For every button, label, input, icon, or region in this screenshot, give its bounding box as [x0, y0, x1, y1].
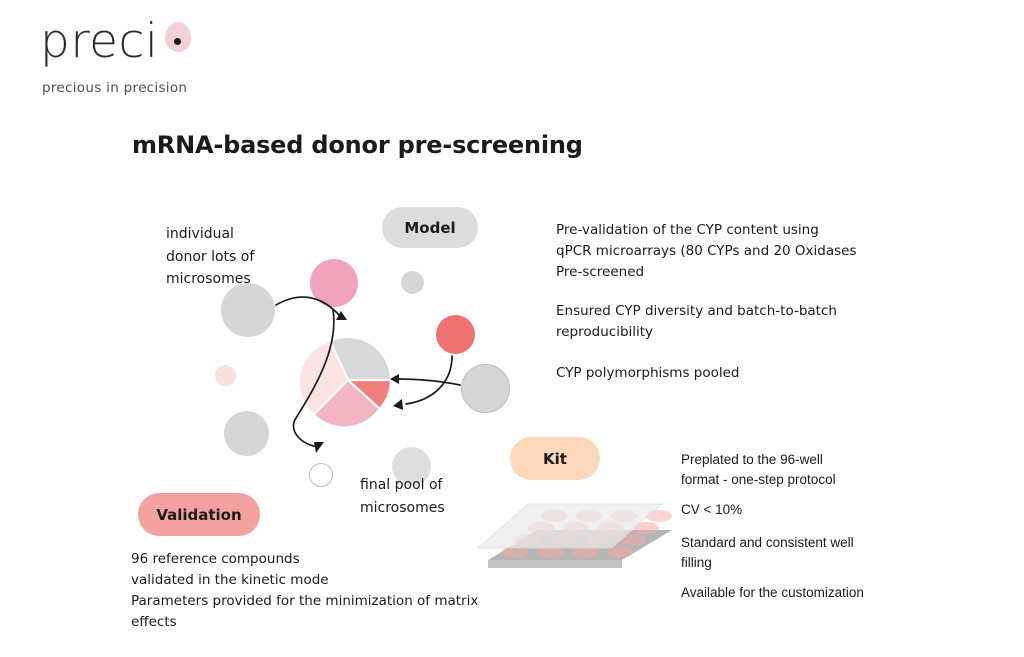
pie-slice-pale — [300, 342, 348, 414]
logo-wordmark: preci — [40, 18, 158, 65]
pill-validation[interactable]: Validation — [138, 493, 260, 536]
pie-slice-gray — [331, 338, 390, 380]
donor-lot-circle-gray-1 — [221, 283, 275, 337]
arrowhead-4 — [390, 374, 399, 384]
slide-canvas: preci precious in precision mRNA-based d… — [0, 0, 1024, 657]
page-title: mRNA-based donor pre-screening — [132, 131, 583, 159]
pie-slice-salmon — [348, 380, 390, 408]
donor-lot-circle-gray-small-1 — [401, 271, 424, 294]
flow-arrowheads — [314, 311, 403, 453]
arrowhead-3 — [393, 399, 403, 410]
pie-slice-pink — [314, 380, 379, 426]
arrow-grayring-to-pie — [398, 379, 460, 385]
flow-arrows — [276, 297, 460, 447]
logo-dot-icon — [174, 38, 181, 45]
validation-body-text: 96 reference compounds validated in the … — [131, 549, 491, 633]
96-well-plate-illustration — [470, 488, 690, 603]
kit-bullet-4: Available for the customization — [681, 583, 911, 603]
arrow-pink-to-pie — [293, 310, 333, 447]
arrow-red-to-pie — [406, 356, 452, 404]
arrowhead-1 — [336, 311, 347, 320]
kit-bullet-3: Standard and consistent well filling — [681, 533, 896, 572]
donor-lot-circle-gray-2 — [224, 411, 269, 456]
kit-bullet-1: Preplated to the 96-well format - one-st… — [681, 450, 891, 489]
plate-base-front — [488, 560, 622, 568]
model-bullet-3: CYP polymorphisms pooled — [556, 363, 856, 384]
donor-lot-circle-outline — [309, 463, 333, 487]
logo-tagline: precious in precision — [42, 80, 187, 96]
donor-lot-circle-red-1 — [436, 315, 475, 354]
arrowhead-2 — [314, 442, 324, 453]
pie-slice-dividers — [314, 342, 390, 414]
model-bullet-2: Ensured CYP diversity and batch-to-batch… — [556, 301, 856, 343]
donor-lot-circle-palepink-1 — [215, 365, 236, 386]
logo-blob-icon — [165, 22, 191, 52]
label-individual-donor-lots: individual donor lots of microsomes — [166, 223, 316, 291]
brand-logo: preci precious in precision — [40, 18, 280, 104]
model-bullet-1: Pre-validation of the CYP content using … — [556, 220, 866, 283]
pill-kit[interactable]: Kit — [510, 437, 600, 480]
kit-bullet-2: CV < 10% — [681, 500, 891, 520]
donor-lot-circle-gray-3 — [461, 364, 510, 413]
donor-lot-circle-pink-1 — [310, 259, 358, 307]
pie-chart — [300, 338, 390, 426]
pill-model[interactable]: Model — [382, 207, 478, 248]
